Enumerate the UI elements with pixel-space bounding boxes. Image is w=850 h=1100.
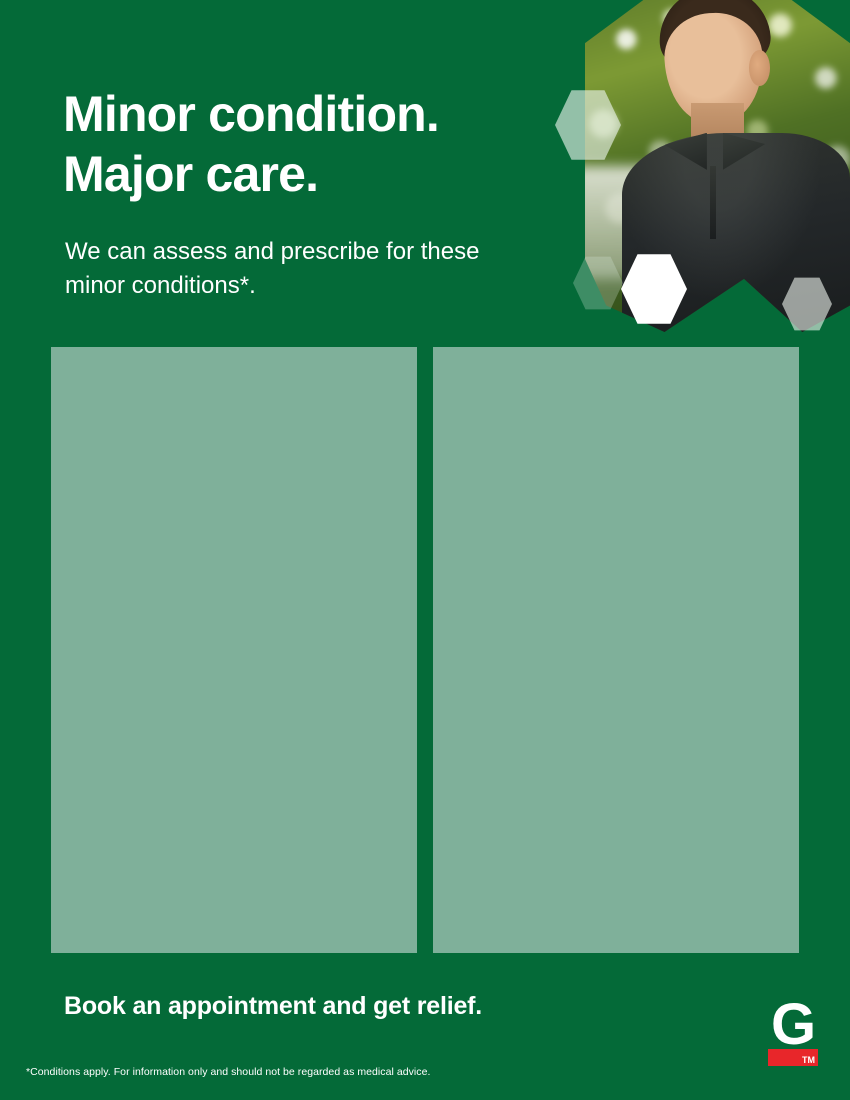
logo-red-bar: TM — [768, 1049, 818, 1066]
disclaimer-text: *Conditions apply. For information only … — [26, 1066, 430, 1078]
headline-line-1: Minor condition. — [63, 85, 583, 145]
subject-ear — [749, 50, 770, 87]
subheading-line-1: We can assess and prescribe for these — [65, 235, 565, 269]
logo-letter-g: G — [768, 997, 818, 1053]
headline-line-2: Major care. — [63, 145, 583, 205]
cta-text: Book an appointment and get relief. — [64, 992, 482, 1021]
left-content-panel[interactable] — [51, 347, 417, 953]
page-title: Minor condition. Major care. — [63, 85, 583, 204]
polo-placket — [710, 166, 717, 239]
subheading: We can assess and prescribe for these mi… — [65, 235, 565, 302]
trademark-symbol: TM — [802, 1055, 815, 1065]
right-content-panel[interactable] — [433, 347, 799, 953]
brand-logo: G TM — [768, 1003, 818, 1065]
subheading-line-2: minor conditions*. — [65, 269, 565, 303]
poster-canvas: Minor condition. Major care. We can asse… — [0, 0, 850, 1100]
